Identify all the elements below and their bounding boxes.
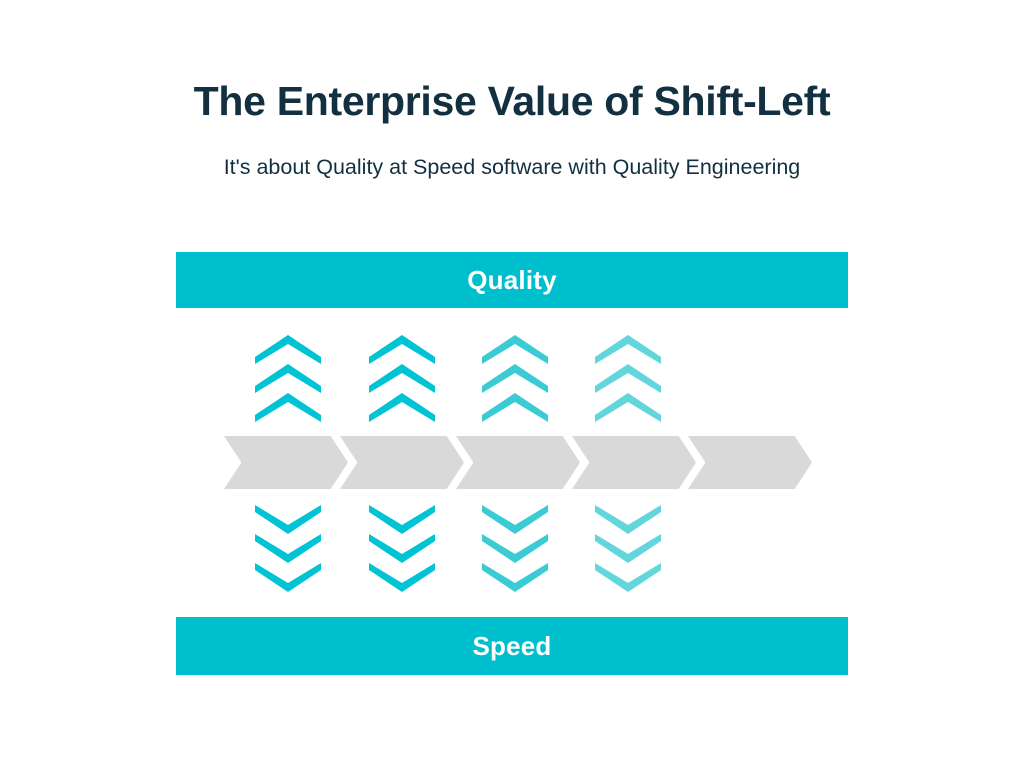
chevron-down-icon [482, 563, 548, 592]
process-arrow-segment [688, 436, 812, 489]
chevron-down-icon [255, 505, 321, 534]
chevron-up-icon [255, 364, 321, 393]
up-arrow-group-3 [482, 335, 548, 422]
chevron-up-icon [595, 364, 661, 393]
down-arrow-group-2 [369, 505, 435, 592]
slide-canvas: The Enterprise Value of Shift-Left It's … [0, 0, 1024, 768]
speed-bar: Speed [176, 617, 848, 675]
up-arrow-group-2 [369, 335, 435, 422]
down-arrow-group-3 [482, 505, 548, 592]
speed-bar-label: Speed [472, 631, 551, 662]
chevron-up-icon [255, 393, 321, 422]
down-arrow-group-1 [255, 505, 321, 592]
chevron-down-icon [255, 534, 321, 563]
chevron-down-icon [369, 505, 435, 534]
chevron-up-icon [255, 335, 321, 364]
chevron-down-icon [255, 563, 321, 592]
chevron-down-icon [595, 505, 661, 534]
chevron-down-icon [482, 505, 548, 534]
quality-bar-label: Quality [467, 265, 557, 296]
chevron-up-icon [595, 335, 661, 364]
process-arrow-band [224, 436, 798, 489]
chevron-down-icon [369, 534, 435, 563]
chevron-down-icon [482, 534, 548, 563]
chevron-down-icon [595, 563, 661, 592]
chevron-up-icon [369, 393, 435, 422]
chevron-up-icon [369, 364, 435, 393]
up-arrow-group-4 [595, 335, 661, 422]
chevron-up-icon [482, 393, 548, 422]
down-arrow-group-4 [595, 505, 661, 592]
process-arrow-segment [572, 436, 696, 489]
chevron-up-icon [369, 335, 435, 364]
up-arrow-group-1 [255, 335, 321, 422]
process-arrow-segment [456, 436, 580, 489]
chevron-up-icon [595, 393, 661, 422]
page-title: The Enterprise Value of Shift-Left [0, 78, 1024, 125]
quality-bar: Quality [176, 252, 848, 308]
process-arrow-segment [224, 436, 348, 489]
page-subtitle: It's about Quality at Speed software wit… [0, 155, 1024, 181]
chevron-up-icon [482, 364, 548, 393]
process-arrow-segment [340, 436, 464, 489]
chevron-down-icon [595, 534, 661, 563]
chevron-down-icon [369, 563, 435, 592]
chevron-up-icon [482, 335, 548, 364]
